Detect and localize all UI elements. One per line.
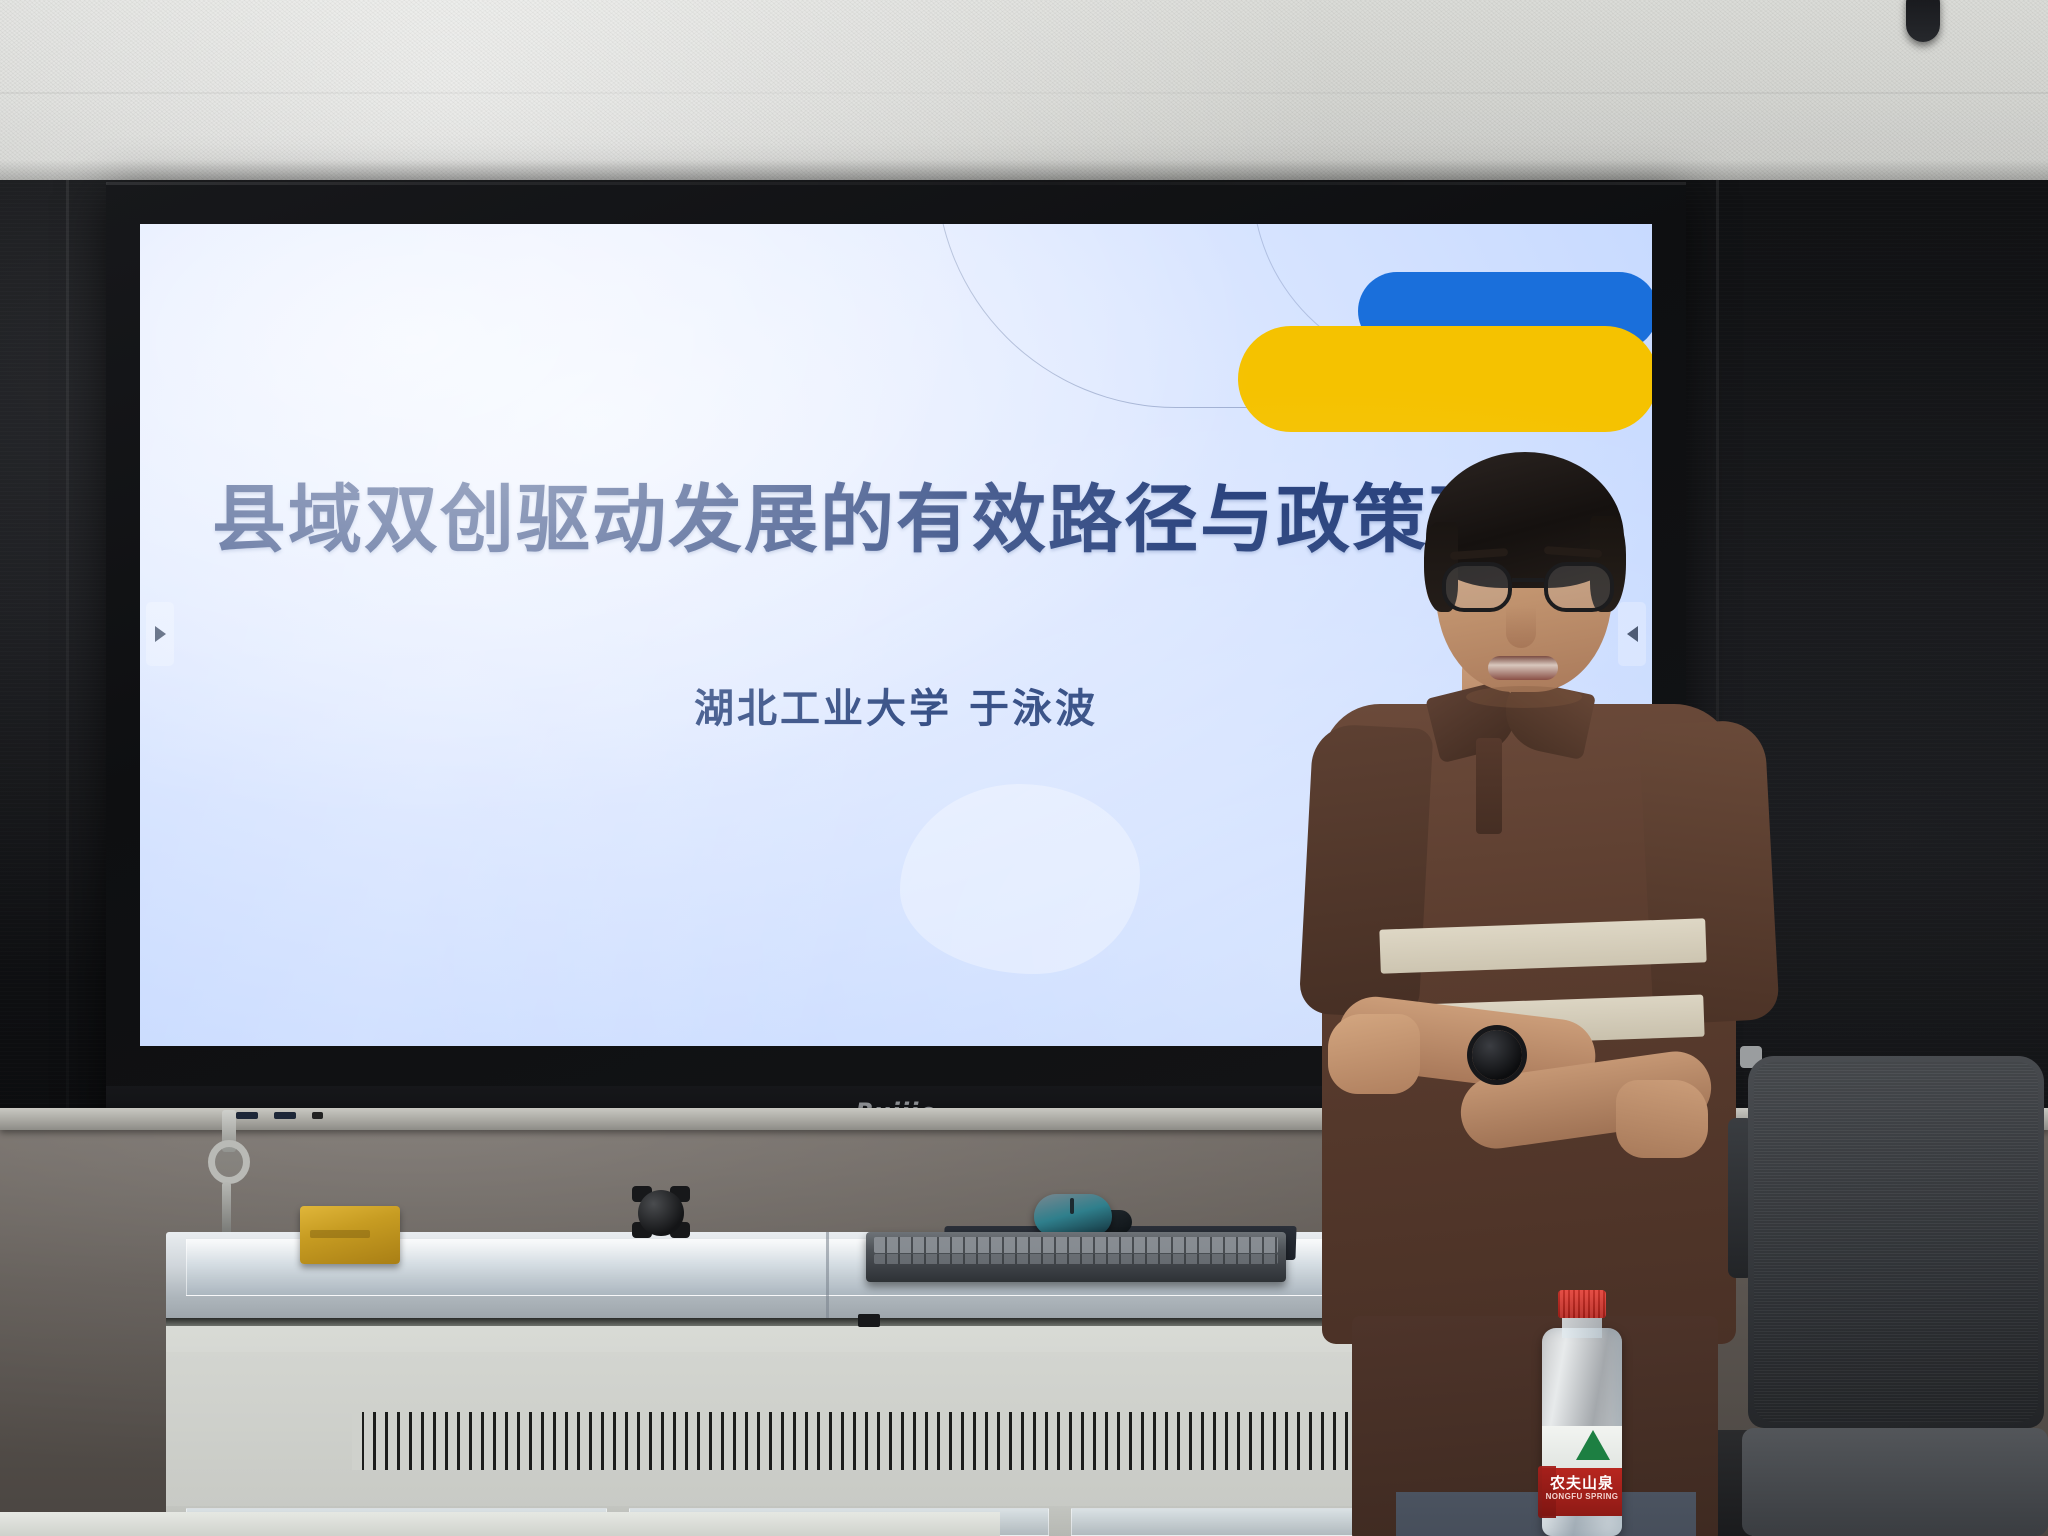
black-knob[interactable] (632, 1186, 690, 1242)
glasses-lens-left (1442, 562, 1512, 612)
wall-seam-left (66, 180, 69, 1120)
wall-ports-group[interactable] (236, 1112, 323, 1119)
ceiling-panel (0, 0, 2048, 186)
ceiling-sensor-icon (1906, 0, 1940, 42)
mountain-logo-icon (1576, 1430, 1610, 1460)
computer-mouse[interactable] (1034, 1194, 1112, 1236)
bottle-cap[interactable] (1558, 1290, 1606, 1318)
ceiling-seam (0, 92, 2048, 94)
keyring-icon[interactable] (208, 1140, 250, 1184)
chair-backrest (1748, 1056, 2044, 1428)
presenter-shirt-placket (1476, 738, 1502, 834)
wall-port-1[interactable] (236, 1112, 258, 1119)
gold-box[interactable] (300, 1206, 400, 1264)
keyboard[interactable] (866, 1232, 1286, 1282)
classroom-scene: 县域双创驱动发展的有效路径与政策建议 湖北工业大学 于泳波 Ruijie (0, 0, 2048, 1536)
podium-vent-grille (352, 1412, 1452, 1470)
keyboard-key-row-bottom (874, 1254, 1278, 1264)
knob-core (638, 1190, 684, 1236)
glasses-lens-right (1544, 562, 1614, 612)
keyboard-key-row-top (874, 1237, 1278, 1253)
glasses-icon (1442, 562, 1614, 612)
podium-vent-edge (352, 1412, 362, 1470)
wall-port-3[interactable] (312, 1112, 323, 1119)
podium-top-divider (826, 1232, 829, 1324)
wall-port-2[interactable] (274, 1112, 296, 1119)
office-chair[interactable] (1742, 1046, 2048, 1536)
screen-edge-tab-left[interactable] (146, 602, 174, 666)
chair-seat (1742, 1428, 2048, 1536)
podium-latch[interactable] (858, 1314, 880, 1327)
presenter-sleeve-right (1638, 719, 1780, 1025)
presenter-hand-right (1616, 1080, 1708, 1158)
water-bottle[interactable]: 农夫山泉 NONGFU SPRING (1534, 1290, 1630, 1536)
triangle-right-icon (155, 626, 166, 642)
presenter-nose (1506, 606, 1536, 648)
glasses-bridge (1512, 578, 1544, 582)
presenter-sleeve-left (1298, 723, 1433, 1019)
smartwatch-icon (1472, 1030, 1522, 1080)
presenter-hand-left (1328, 1014, 1420, 1094)
presenter-mouth (1488, 656, 1558, 680)
bottle-brand-cn: 农夫山泉 (1542, 1472, 1622, 1493)
presenter-chin-shadow (1466, 686, 1582, 708)
decor-blob (900, 784, 1140, 974)
bottle-brand-en: NONGFU SPRING (1542, 1492, 1622, 1501)
front-row-desk (0, 1512, 1000, 1536)
